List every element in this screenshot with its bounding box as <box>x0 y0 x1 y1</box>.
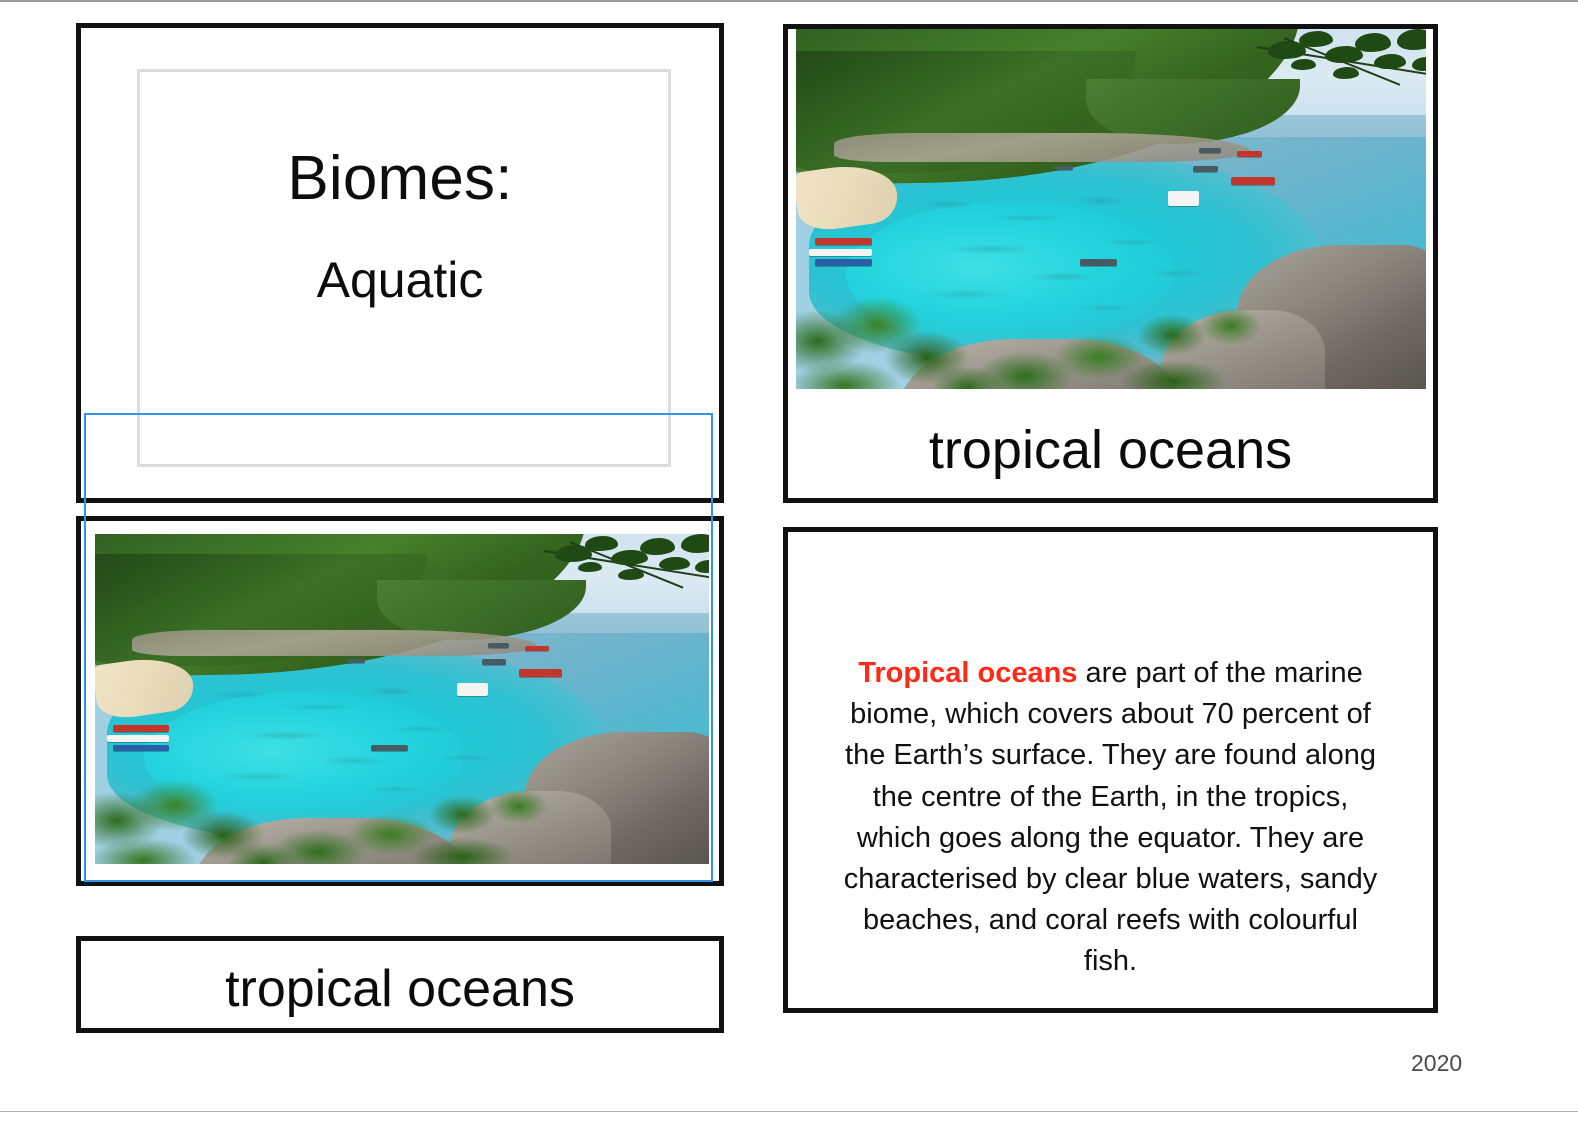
boat-icon <box>1080 259 1118 265</box>
title-text-group: Biomes: Aquatic <box>81 146 719 306</box>
boat-icon <box>525 646 550 651</box>
tropical-ocean-photo[interactable] <box>95 534 709 864</box>
page-bottom-rule <box>0 1111 1578 1112</box>
body-text-slide[interactable]: Tropical oceans are part of the marine b… <box>783 527 1438 1013</box>
boat-icon <box>519 669 562 677</box>
lead-phrase: Tropical oceans <box>858 657 1077 689</box>
overhanging-branch <box>537 534 709 613</box>
rocky-shoreline-layer <box>132 630 537 656</box>
boat-icon <box>809 249 872 256</box>
tropical-ocean-photo[interactable] <box>796 29 1426 389</box>
overhanging-branch <box>1250 29 1426 115</box>
boat-icon <box>113 725 168 732</box>
boat-icon <box>1168 191 1200 206</box>
boat-icon <box>371 745 408 751</box>
boat-icon <box>1054 166 1073 170</box>
rocky-shoreline-layer <box>834 133 1250 162</box>
page-top-rule <box>0 0 1578 2</box>
page-title: Biomes: <box>81 146 719 212</box>
caption-slide[interactable]: tropical oceans <box>76 936 724 1033</box>
boat-icon <box>488 643 509 648</box>
foreground-vegetation <box>427 785 562 844</box>
foreground-vegetation <box>1136 303 1275 368</box>
title-slide[interactable]: Biomes: Aquatic <box>76 23 724 503</box>
body-paragraph: Tropical oceans are part of the marine b… <box>834 653 1387 982</box>
boat-icon <box>815 259 872 265</box>
boat-icon <box>113 745 168 751</box>
boat-icon <box>107 735 168 742</box>
photo-caption: tropical oceans <box>788 419 1433 481</box>
boat-icon <box>815 238 872 245</box>
photo-slide-left[interactable] <box>76 516 724 886</box>
boat-icon <box>1199 148 1221 153</box>
boat-icon <box>1193 166 1218 172</box>
boat-icon <box>1231 177 1275 186</box>
boat-icon <box>482 659 507 664</box>
boat-icon <box>457 683 488 697</box>
body-copy: are part of the marine biome, which cove… <box>844 657 1378 977</box>
footer-year: 2020 <box>1411 1050 1462 1077</box>
photo-caption-slide[interactable]: tropical oceans <box>783 24 1438 503</box>
page-subtitle: Aquatic <box>81 254 719 307</box>
boat-icon <box>1237 151 1262 157</box>
boat-icon <box>347 659 365 663</box>
caption-text: tropical oceans <box>81 959 719 1019</box>
